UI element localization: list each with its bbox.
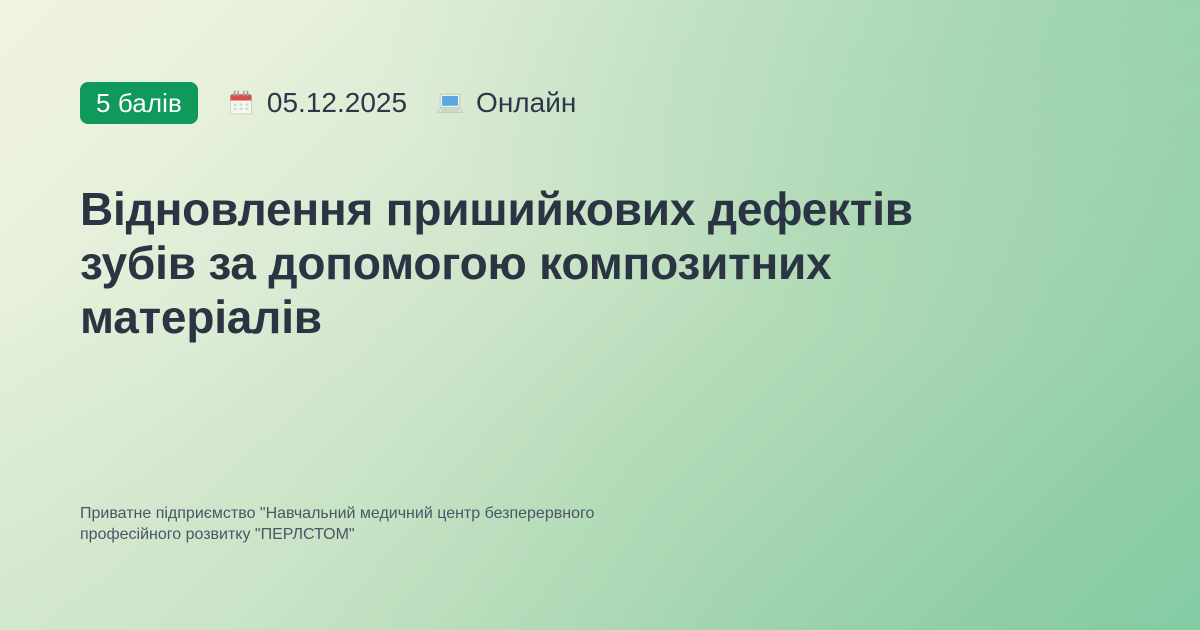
event-preview-card: 5 балів — [0, 0, 1200, 630]
event-format: Онлайн — [435, 88, 576, 118]
page-title: Відновлення пришийкових дефектів зубів з… — [80, 182, 1110, 344]
page-title-line-3: матеріалів — [80, 290, 1110, 344]
organizer-name-line-1: Приватне підприємство "Навчальний медичн… — [80, 503, 960, 524]
organizer-name-line-2: професійного розвитку "ПЕРЛСТОМ" — [80, 524, 960, 545]
credit-points-badge: 5 балів — [80, 82, 198, 124]
page-title-line-1: Відновлення пришийкових дефектів — [80, 182, 1110, 236]
meta-row: 5 балів — [80, 82, 576, 124]
card-content: 5 балів — [0, 0, 1200, 630]
event-date-label: 05.12.2025 — [267, 89, 407, 117]
event-date: 05.12.2025 — [226, 88, 407, 118]
calendar-icon — [226, 88, 256, 118]
event-format-label: Онлайн — [476, 89, 576, 117]
organizer-name: Приватне підприємство "Навчальний медичн… — [80, 503, 960, 545]
computer-icon — [435, 88, 465, 118]
page-title-line-2: зубів за допомогою композитних — [80, 236, 1110, 290]
